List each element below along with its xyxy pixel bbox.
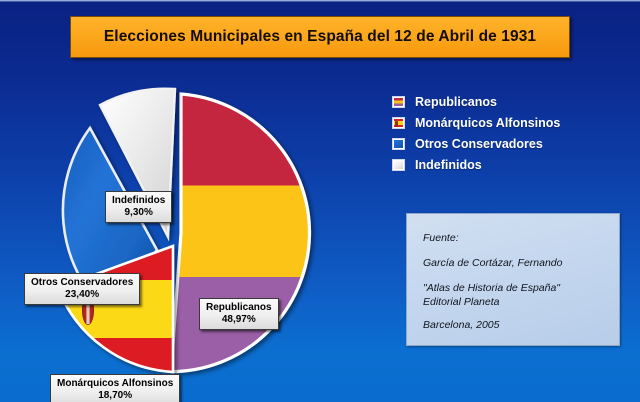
chart-legend: Republicanos Monárquicos Alfonsinos Otro… <box>392 91 632 175</box>
pie-chart: Indefinidos 9,30% Otros Conservadores 23… <box>0 76 380 396</box>
title-banner: Elecciones Municipales en España del 12 … <box>70 16 570 58</box>
legend-label-otros-conservadores: Otros Conservadores <box>415 137 543 151</box>
source-author: García de Cortázar, Fernando <box>423 257 619 271</box>
white-square-icon <box>392 159 405 171</box>
source-place-year: Barcelona, 2005 <box>423 319 619 333</box>
legend-label-monarquicos-alfonsinos: Monárquicos Alfonsinos <box>415 116 560 130</box>
top-hairline <box>0 0 640 2</box>
callout-republicanos-name: Republicanos <box>206 302 272 313</box>
page-title: Elecciones Municipales en España del 12 … <box>104 28 536 46</box>
slide-canvas: Elecciones Municipales en España del 12 … <box>0 0 640 402</box>
flag-republicana-icon <box>392 96 405 108</box>
legend-label-republicanos: Republicanos <box>415 95 497 109</box>
callout-otros-conservadores-name: Otros Conservadores <box>31 277 133 288</box>
legend-label-indefinidos: Indefinidos <box>415 158 482 172</box>
source-publisher: Editorial Planeta <box>423 296 619 310</box>
blue-square-icon <box>392 138 405 150</box>
legend-item-indefinidos[interactable]: Indefinidos <box>392 154 632 175</box>
legend-item-monarquicos-alfonsinos[interactable]: Monárquicos Alfonsinos <box>392 112 632 133</box>
source-box: Fuente: García de Cortázar, Fernando "At… <box>406 213 620 346</box>
callout-indefinidos-name: Indefinidos <box>112 195 165 206</box>
legend-item-republicanos[interactable]: Republicanos <box>392 91 632 112</box>
callout-monarquicos-alfonsinos[interactable]: Monárquicos Alfonsinos 18,70% <box>50 374 180 402</box>
callout-republicanos[interactable]: Republicanos 48,97% <box>199 298 279 330</box>
callout-indefinidos-percent: 9,30% <box>112 207 165 219</box>
source-work: "Atlas de Historia de España" <box>423 282 619 296</box>
callout-otros-conservadores[interactable]: Otros Conservadores 23,40% <box>24 273 140 305</box>
source-heading: Fuente: <box>423 232 619 246</box>
callout-indefinidos[interactable]: Indefinidos 9,30% <box>105 191 172 223</box>
callout-otros-conservadores-percent: 23,40% <box>31 289 133 301</box>
pie-slice-republicanos-path[interactable] <box>171 94 309 372</box>
legend-item-otros-conservadores[interactable]: Otros Conservadores <box>392 133 632 154</box>
pie-chart-svg <box>0 76 380 396</box>
callout-monarquicos-alfonsinos-name: Monárquicos Alfonsinos <box>57 378 173 389</box>
callout-republicanos-percent: 48,97% <box>206 314 272 326</box>
callout-monarquicos-alfonsinos-percent: 18,70% <box>57 390 173 402</box>
pie-slice-republicanos[interactable] <box>171 94 309 372</box>
flag-monarquica-icon <box>392 117 405 129</box>
